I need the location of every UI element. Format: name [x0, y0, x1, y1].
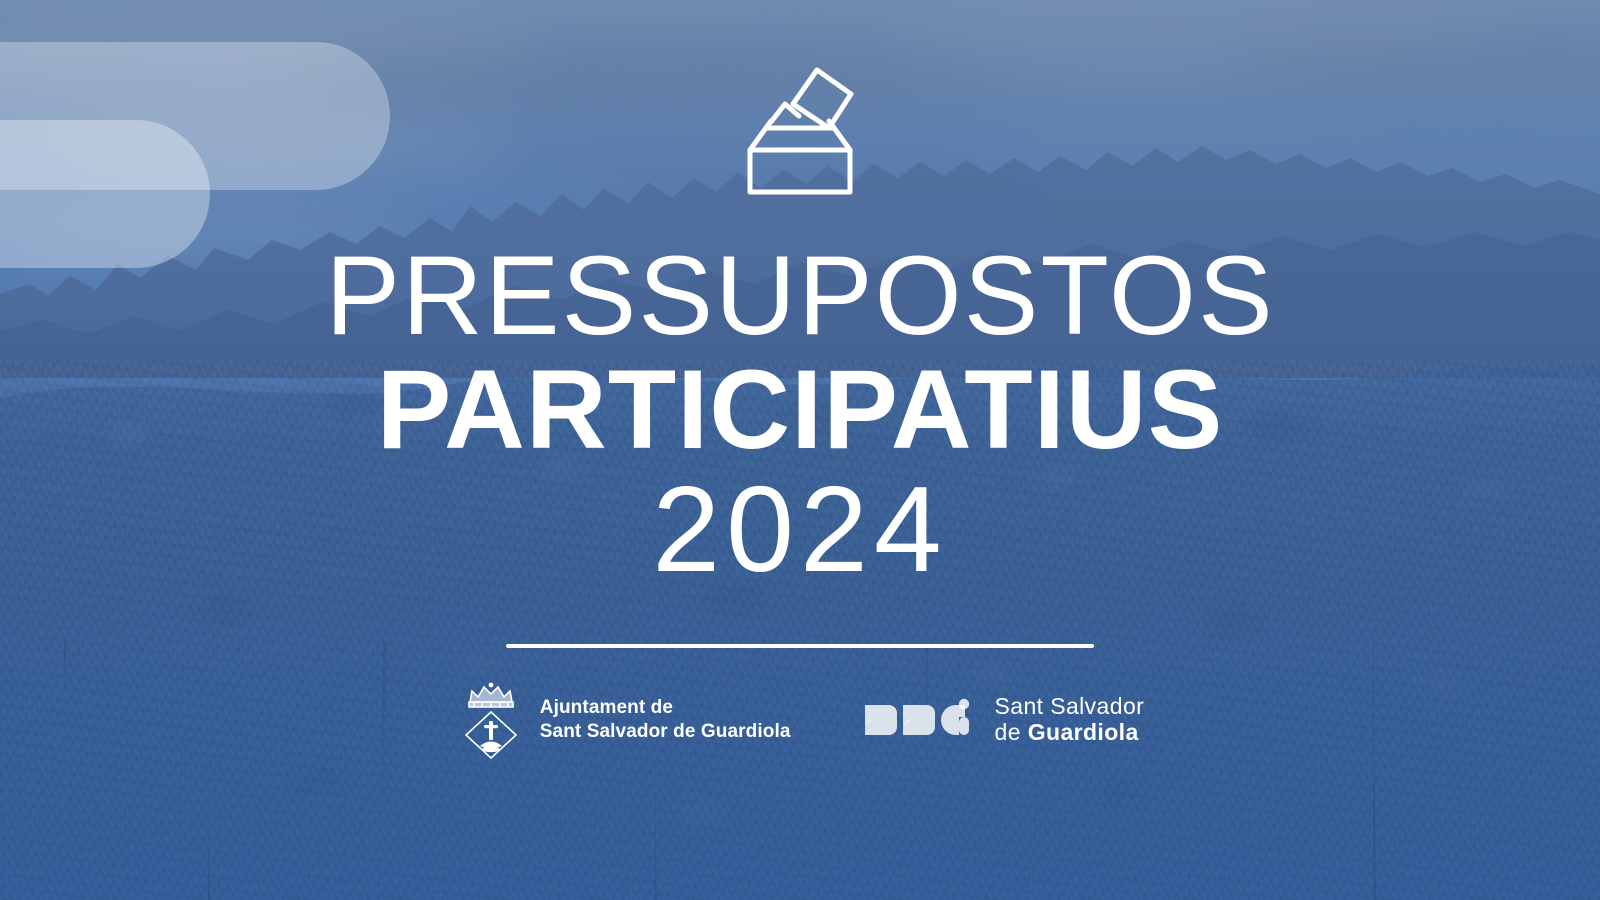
- ssg-line-2: de Guardiola: [995, 720, 1145, 746]
- ajuntament-logo: Ajuntament de Sant Salvador de Guardiola: [456, 680, 791, 760]
- ssg-line-1: Sant Salvador: [995, 694, 1145, 720]
- poster-title-group: PRESSUPOSTOS PARTICIPATIUS 2024: [325, 242, 1274, 588]
- ajuntament-logo-text: Ajuntament de Sant Salvador de Guardiola: [540, 696, 791, 744]
- poster-content: PRESSUPOSTOS PARTICIPATIUS 2024: [0, 0, 1600, 900]
- logo-row: Ajuntament de Sant Salvador de Guardiola: [456, 680, 1144, 760]
- ssg-monogram-icon: [863, 697, 981, 743]
- ballot-box-icon: [741, 58, 859, 200]
- ssg-line-2-light: de: [995, 719, 1028, 745]
- crown-and-shield-icon: [456, 680, 526, 760]
- ssg-line-2-bold: Guardiola: [1028, 719, 1139, 745]
- title-line-pressupostos: PRESSUPOSTOS: [325, 242, 1274, 350]
- ssg-logo-text: Sant Salvador de Guardiola: [995, 694, 1145, 746]
- horizontal-rule: [506, 644, 1094, 648]
- title-line-year: 2024: [325, 471, 1274, 588]
- ajuntament-line-2: Sant Salvador de Guardiola: [540, 720, 791, 744]
- title-line-participatius: PARTICIPATIUS: [325, 356, 1274, 464]
- ajuntament-line-1: Ajuntament de: [540, 696, 791, 720]
- ssg-logo: Sant Salvador de Guardiola: [863, 694, 1145, 746]
- poster-canvas: PRESSUPOSTOS PARTICIPATIUS 2024: [0, 0, 1600, 900]
